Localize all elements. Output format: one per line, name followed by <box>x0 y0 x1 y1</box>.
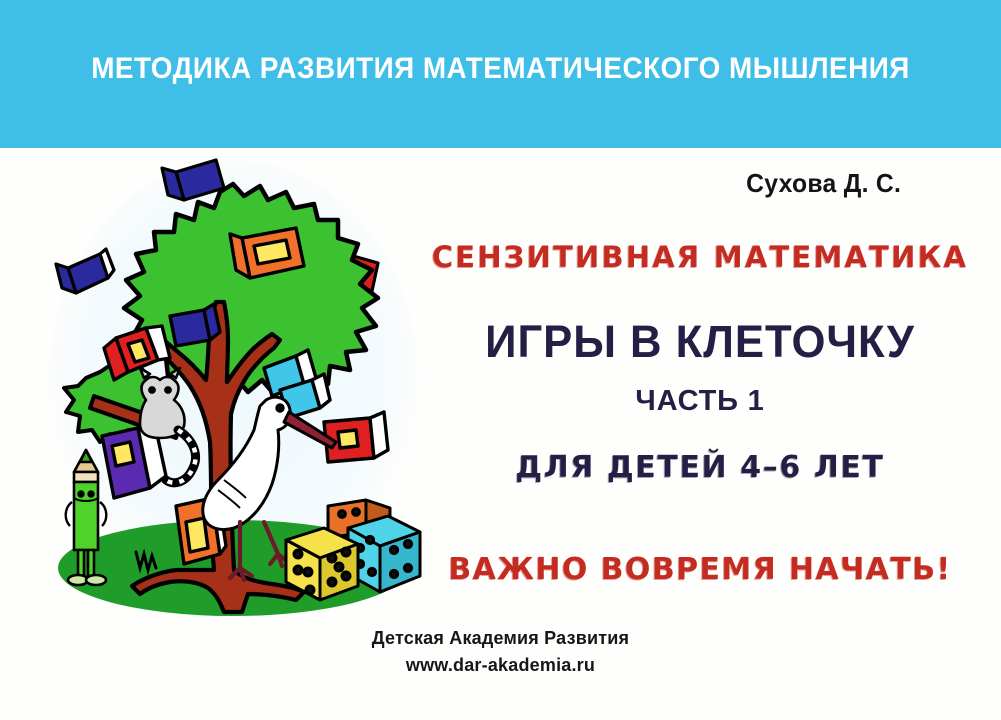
author-name: Сухова Д. С. <box>746 168 901 199</box>
age-range: ДЛЯ ДЕТЕЙ 4–6 ЛЕТ <box>420 450 980 485</box>
tree-illustration <box>28 150 448 620</box>
footer-website: www.dar-akademia.ru <box>0 655 1001 676</box>
book-title: ИГРЫ В КЛЕТОЧКУ <box>428 316 971 368</box>
series-title: СЕНЗИТИВНАЯ МАТЕМАТИКА <box>420 240 980 274</box>
footer: Детская Академия Развития www.dar-akadem… <box>0 628 1001 676</box>
book-red-right <box>324 412 388 462</box>
header-banner: МЕТОДИКА РАЗВИТИЯ МАТЕМАТИЧЕСКОГО МЫШЛЕН… <box>0 0 1001 148</box>
book-part: ЧАСТЬ 1 <box>420 385 980 418</box>
footer-organization: Детская Академия Развития <box>0 628 1001 649</box>
dice-yellow <box>286 528 358 600</box>
slogan: ВАЖНО ВОВРЕМЯ НАЧАТЬ! <box>420 552 980 587</box>
banner-title: МЕТОДИКА РАЗВИТИЯ МАТЕМАТИЧЕСКОГО МЫШЛЕН… <box>35 52 966 86</box>
book-cover: МЕТОДИКА РАЗВИТИЯ МАТЕМАТИЧЕСКОГО МЫШЛЕН… <box>0 0 1001 720</box>
